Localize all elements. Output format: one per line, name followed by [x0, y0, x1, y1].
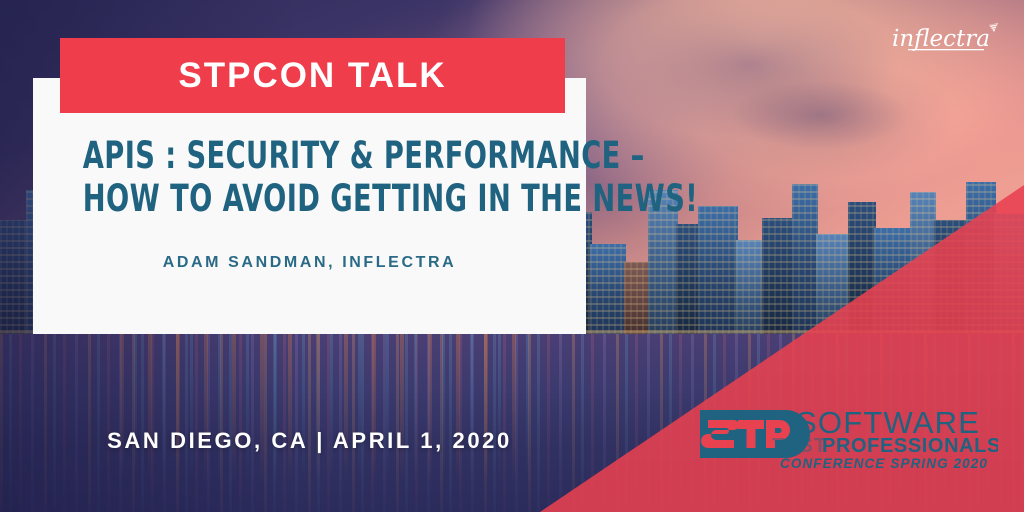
inflectra-underline: [908, 49, 984, 50]
content-card-body: APIS : SECURITY & PERFORMANCE – HOW TO A…: [33, 134, 586, 272]
talk-type-banner: STPCON TALK: [60, 38, 565, 113]
talk-title-line-2: HOW TO AVOID GETTING IN THE NEWS!: [83, 177, 536, 220]
content-card: APIS : SECURITY & PERFORMANCE – HOW TO A…: [33, 78, 586, 334]
stp-conference-logo: SOFTWARE TEST PROFESSIONALS CONFERENCE S…: [698, 402, 998, 474]
promo-banner-canvas: APIS : SECURITY & PERFORMANCE – HOW TO A…: [0, 0, 1024, 512]
event-date-location: SAN DIEGO, CA | APRIL 1, 2020: [33, 428, 586, 454]
inflectra-leaf-icon: [989, 23, 998, 32]
stp-professionals-text: PROFESSIONALS: [822, 435, 998, 457]
inflectra-logo: inflectra: [890, 22, 1002, 56]
stp-conference-text: CONFERENCE SPRING 2020: [780, 456, 988, 471]
inflectra-wordmark: inflectra: [892, 26, 990, 52]
talk-type-label: STPCON TALK: [178, 56, 446, 96]
speaker-name: ADAM SANDMAN, INFLECTRA: [33, 254, 586, 272]
talk-title-line-1: APIS : SECURITY & PERFORMANCE –: [83, 134, 536, 177]
stp-test-text: TEST: [772, 435, 827, 457]
